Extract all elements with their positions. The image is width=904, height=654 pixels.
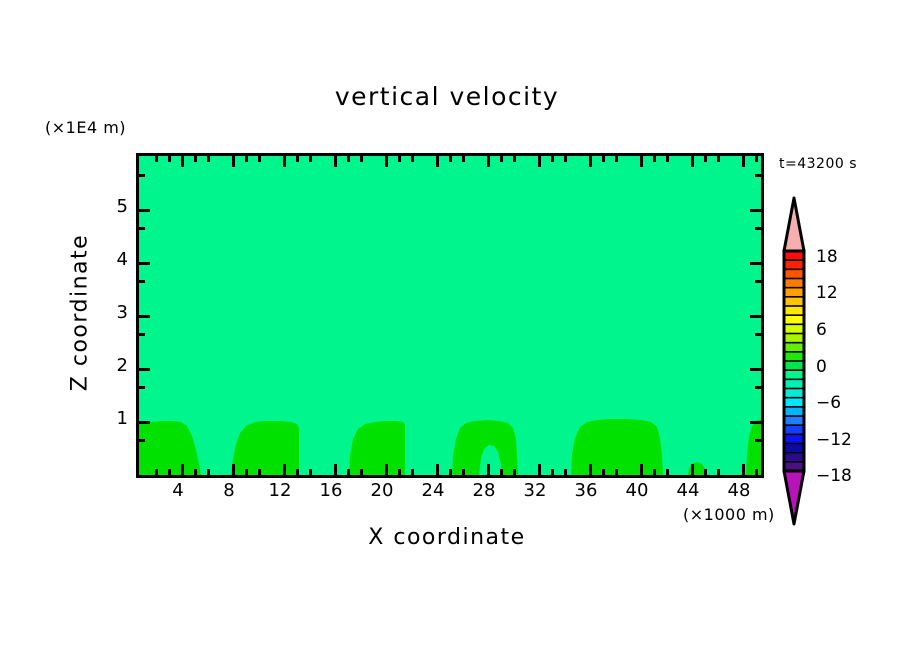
- x-tick-major: [742, 464, 745, 475]
- x-tick-major: [283, 464, 286, 475]
- x-tick-label: 8: [204, 480, 254, 501]
- y-tick-major: [139, 262, 150, 265]
- y-tick-label: 5: [88, 196, 128, 217]
- x-tick-minor: [666, 469, 669, 475]
- figure-canvas: vertical velocity (×1E4 m) Z coordinate: [0, 0, 904, 654]
- y-tick-right-major: [750, 421, 761, 424]
- x-tick-top-minor: [449, 156, 452, 162]
- x-tick-top-minor: [207, 156, 210, 162]
- y-tick-right-major: [750, 315, 761, 318]
- y-tick-label: 2: [88, 355, 128, 376]
- colorbar-band: [784, 453, 804, 463]
- x-tick-major: [589, 464, 592, 475]
- colorbar-band: [784, 379, 804, 389]
- x-tick-top-minor: [653, 156, 656, 162]
- x-tick-minor: [500, 469, 503, 475]
- x-tick-label: 20: [357, 480, 407, 501]
- y-tick-right-minor: [755, 227, 761, 230]
- x-tick-major: [487, 464, 490, 475]
- x-tick-top-major: [385, 156, 388, 167]
- x-axis-units-label: (×1000 m): [683, 505, 775, 524]
- x-tick-major: [538, 464, 541, 475]
- x-tick-top-minor: [347, 156, 350, 162]
- x-tick-top-minor: [602, 156, 605, 162]
- colorbar-band: [784, 389, 804, 399]
- x-tick-top-minor: [717, 156, 720, 162]
- x-tick-top-minor: [462, 156, 465, 162]
- x-tick-label: 44: [663, 480, 713, 501]
- colorbar-band: [784, 306, 804, 316]
- y-tick-minor: [139, 333, 145, 336]
- x-tick-major: [181, 464, 184, 475]
- y-tick-minor: [139, 439, 145, 442]
- x-tick-top-minor: [564, 156, 567, 162]
- x-tick-label: 12: [255, 480, 305, 501]
- x-tick-minor: [653, 469, 656, 475]
- colorbar-band: [784, 260, 804, 270]
- x-tick-label: 40: [612, 480, 662, 501]
- y-tick-minor: [139, 280, 145, 283]
- colorbar-band: [784, 343, 804, 353]
- x-tick-minor: [398, 469, 401, 475]
- x-tick-top-major: [640, 156, 643, 167]
- colorbar-band: [784, 444, 804, 454]
- contour-field: [139, 156, 761, 475]
- x-tick-minor: [704, 469, 707, 475]
- colorbar-bands: [784, 251, 804, 471]
- x-tick-major: [691, 464, 694, 475]
- x-tick-minor: [296, 469, 299, 475]
- colorbar-tick-label: 18: [816, 247, 838, 267]
- colorbar[interactable]: [781, 196, 807, 526]
- x-tick-label: 32: [510, 480, 560, 501]
- x-tick-top-minor: [258, 156, 261, 162]
- colorbar-band: [784, 288, 804, 298]
- y-axis-units-label: (×1E4 m): [45, 118, 126, 137]
- colorbar-band: [784, 269, 804, 279]
- x-axis-title: X coordinate: [136, 525, 758, 550]
- x-tick-label: 28: [459, 480, 509, 501]
- contour-background: [139, 156, 761, 475]
- colorbar-band: [784, 407, 804, 417]
- x-tick-top-minor: [704, 156, 707, 162]
- x-tick-top-minor: [513, 156, 516, 162]
- x-tick-top-minor: [296, 156, 299, 162]
- x-tick-major: [334, 464, 337, 475]
- y-tick-major: [139, 315, 150, 318]
- x-tick-top-minor: [666, 156, 669, 162]
- colorbar-band: [784, 434, 804, 444]
- y-tick-label: 1: [88, 408, 128, 429]
- x-tick-label: 36: [561, 480, 611, 501]
- x-tick-minor: [168, 469, 171, 475]
- x-tick-minor: [602, 469, 605, 475]
- colorbar-band: [784, 352, 804, 362]
- x-tick-top-major: [334, 156, 337, 167]
- page-title: vertical velocity: [136, 82, 758, 111]
- x-tick-top-major: [283, 156, 286, 167]
- x-tick-minor: [717, 469, 720, 475]
- y-tick-right-minor: [755, 280, 761, 283]
- colorbar-band: [784, 416, 804, 426]
- colorbar-band: [784, 324, 804, 334]
- y-tick-major: [139, 209, 150, 212]
- x-tick-top-minor: [155, 156, 158, 162]
- colorbar-tick-label: 12: [816, 283, 838, 303]
- colorbar-band: [784, 398, 804, 408]
- x-tick-top-minor: [500, 156, 503, 162]
- y-tick-minor: [139, 174, 145, 177]
- colorbar-band: [784, 361, 804, 371]
- y-tick-minor: [139, 227, 145, 230]
- x-tick-minor: [449, 469, 452, 475]
- y-tick-right-major: [750, 209, 761, 212]
- x-tick-top-minor: [168, 156, 171, 162]
- colorbar-tick-label: 0: [816, 357, 827, 377]
- x-tick-major: [385, 464, 388, 475]
- contour-blob-5: [571, 419, 663, 475]
- colorbar-tick-label: −18: [816, 466, 852, 486]
- x-tick-minor: [309, 469, 312, 475]
- x-tick-top-minor: [194, 156, 197, 162]
- x-tick-minor: [207, 469, 210, 475]
- x-tick-minor: [615, 469, 618, 475]
- y-tick-minor: [139, 386, 145, 389]
- x-tick-minor: [155, 469, 158, 475]
- x-tick-label: 4: [153, 480, 203, 501]
- x-tick-minor: [347, 469, 350, 475]
- x-tick-top-major: [589, 156, 592, 167]
- x-tick-top-minor: [551, 156, 554, 162]
- x-tick-top-major: [538, 156, 541, 167]
- y-tick-right-minor: [755, 174, 761, 177]
- plot-area[interactable]: [136, 153, 764, 478]
- x-tick-top-minor: [411, 156, 414, 162]
- x-tick-top-minor: [309, 156, 312, 162]
- colorbar-over-arrow: [784, 198, 804, 251]
- x-tick-label: 24: [408, 480, 458, 501]
- x-tick-major: [232, 464, 235, 475]
- x-tick-top-major: [487, 156, 490, 167]
- y-tick-right-minor: [755, 386, 761, 389]
- x-tick-top-minor: [360, 156, 363, 162]
- y-tick-major: [139, 368, 150, 371]
- x-tick-minor: [258, 469, 261, 475]
- x-tick-label: 16: [306, 480, 356, 501]
- x-tick-top-minor: [615, 156, 618, 162]
- y-tick-right-major: [750, 368, 761, 371]
- x-tick-label: 48: [714, 480, 764, 501]
- x-tick-minor: [194, 469, 197, 475]
- x-tick-minor: [245, 469, 248, 475]
- x-tick-minor: [411, 469, 414, 475]
- colorbar-band: [784, 334, 804, 344]
- x-tick-top-major: [232, 156, 235, 167]
- x-tick-top-minor: [398, 156, 401, 162]
- y-tick-major: [139, 421, 150, 424]
- x-tick-top-major: [436, 156, 439, 167]
- colorbar-under-arrow: [784, 471, 804, 524]
- x-tick-minor: [564, 469, 567, 475]
- y-tick-right-minor: [755, 333, 761, 336]
- x-tick-minor: [513, 469, 516, 475]
- x-tick-top-major: [742, 156, 745, 167]
- x-tick-major: [640, 464, 643, 475]
- colorbar-scale: [781, 196, 807, 526]
- x-tick-top-minor: [245, 156, 248, 162]
- y-tick-right-major: [750, 262, 761, 265]
- x-tick-minor: [360, 469, 363, 475]
- y-tick-label: 4: [88, 249, 128, 270]
- colorbar-band: [784, 370, 804, 380]
- colorbar-tick-label: −12: [816, 430, 852, 450]
- colorbar-tick-label: 6: [816, 320, 827, 340]
- x-tick-major: [436, 464, 439, 475]
- x-tick-top-minor: [755, 156, 758, 162]
- colorbar-band: [784, 315, 804, 325]
- y-tick-label: 3: [88, 302, 128, 323]
- y-tick-right-minor: [755, 439, 761, 442]
- colorbar-band: [784, 425, 804, 435]
- x-tick-minor: [462, 469, 465, 475]
- colorbar-band: [784, 297, 804, 307]
- x-tick-top-major: [181, 156, 184, 167]
- colorbar-band: [784, 279, 804, 289]
- colorbar-tick-label: −6: [816, 393, 841, 413]
- x-tick-top-major: [691, 156, 694, 167]
- x-tick-minor: [551, 469, 554, 475]
- time-stamp-annotation: t=43200 s: [779, 156, 857, 172]
- x-tick-minor: [755, 469, 758, 475]
